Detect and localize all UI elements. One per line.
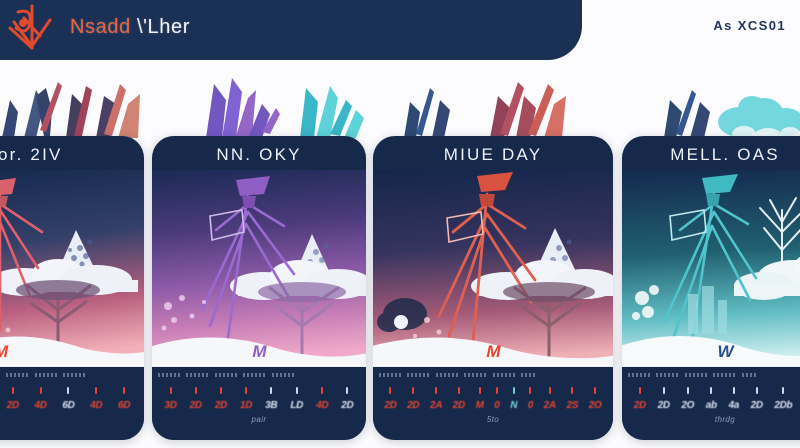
card-glyph: M xyxy=(0,342,7,362)
hour-pip xyxy=(496,387,498,394)
header-code-label: As XCS01 xyxy=(713,18,786,33)
hour-value: 6D xyxy=(118,400,130,411)
footer-tick-rule xyxy=(158,373,360,378)
card-illustration: M xyxy=(0,170,144,366)
hour-pip xyxy=(170,387,172,394)
hour-cell[interactable]: 2A xyxy=(544,387,556,413)
hour-value: 1D xyxy=(240,400,252,411)
weather-card[interactable]: or. 2IV xyxy=(0,136,144,440)
footer-tick-rule xyxy=(628,373,800,378)
card-footer: 3D 2D 2D 1D 3B LD 4D 2D pair xyxy=(152,366,366,440)
card-title: MIUE DAY xyxy=(373,145,613,165)
hour-value: 2D xyxy=(453,400,465,411)
card-illustration: M xyxy=(373,170,613,366)
hour-pip xyxy=(733,387,735,394)
hour-cell[interactable]: 2D xyxy=(658,387,670,413)
hour-value: LD xyxy=(290,400,303,411)
card-glyph: W xyxy=(717,342,732,362)
brand-mark-icon xyxy=(6,2,60,54)
card-illustration: W xyxy=(622,170,800,366)
hour-value: 2A xyxy=(430,400,442,411)
hour-cell[interactable]: 2D xyxy=(341,387,353,413)
hour-pip xyxy=(95,387,97,394)
hour-cell[interactable]: 2O xyxy=(589,387,602,413)
hour-pip xyxy=(270,387,272,394)
hour-cell[interactable]: 0 xyxy=(528,387,533,413)
hour-cell[interactable]: 4D xyxy=(90,387,102,413)
card-title: or. 2IV xyxy=(0,145,144,165)
hour-cell[interactable]: ab xyxy=(706,387,717,413)
hour-value: 2D xyxy=(190,400,202,411)
hour-pip xyxy=(321,387,323,394)
card-footer: 0 2D 4D 6D 4D 6D xyxy=(0,366,144,440)
hour-cell[interactable]: 0 xyxy=(494,387,499,413)
page-title: Nsadd \'Lher xyxy=(70,16,190,39)
hour-pip xyxy=(549,387,551,394)
hour-cell[interactable]: 3B xyxy=(265,387,277,413)
hour-pip xyxy=(513,387,515,394)
hour-value: 2D xyxy=(341,400,353,411)
hour-cell[interactable]: 2D xyxy=(634,387,646,413)
hour-cell[interactable]: LD xyxy=(290,387,303,413)
footer-subtext: thrdg xyxy=(622,415,800,424)
hour-value: 3D xyxy=(164,400,176,411)
page-title-part-2: \'Lher xyxy=(137,16,190,38)
hour-pip xyxy=(782,387,784,394)
card-divider xyxy=(0,365,144,367)
hour-value: 6D xyxy=(62,400,74,411)
hour-cell[interactable]: 4D xyxy=(35,387,47,413)
footer-subtext: pair xyxy=(152,415,366,424)
hour-value: 4D xyxy=(316,400,328,411)
app-root: Nsadd \'Lher As XCS01 or. 2IV xyxy=(0,0,800,448)
hour-cell[interactable]: 2D xyxy=(751,387,763,413)
weather-card[interactable]: MELL. OAS xyxy=(622,136,800,440)
hour-cell[interactable]: 2A xyxy=(430,387,442,413)
hour-cell[interactable]: 2D xyxy=(453,387,465,413)
hour-cell[interactable]: 4a xyxy=(728,387,739,413)
hour-value: 2O xyxy=(681,400,694,411)
hour-pip xyxy=(123,387,125,394)
hour-pip xyxy=(435,387,437,394)
card-glyph: M xyxy=(486,342,499,362)
decor-strip xyxy=(0,60,800,142)
hour-cell[interactable]: 4D xyxy=(316,387,328,413)
hour-value: 2D xyxy=(407,400,419,411)
hour-value: 4D xyxy=(90,400,102,411)
card-title: MELL. OAS xyxy=(622,145,800,165)
hour-value: 3B xyxy=(265,400,277,411)
hourly-row[interactable]: 3D 2D 2D 1D 3B LD 4D 2D xyxy=(152,387,366,413)
hour-value: 2D xyxy=(751,400,763,411)
hour-pip xyxy=(412,387,414,394)
card-title: NN. OKY xyxy=(152,145,366,165)
hour-cell[interactable]: 2Db xyxy=(774,387,792,413)
hour-pip xyxy=(296,387,298,394)
hour-pip xyxy=(346,387,348,394)
footer-tick-rule xyxy=(0,373,138,378)
hour-value: 0 xyxy=(494,400,499,411)
weather-card[interactable]: MIUE DAY xyxy=(373,136,613,440)
hour-pip xyxy=(40,387,42,394)
hour-cell[interactable]: 3D xyxy=(164,387,176,413)
hour-pip xyxy=(594,387,596,394)
hour-value: 2D xyxy=(7,400,19,411)
hour-cell[interactable]: 2D xyxy=(384,387,396,413)
hour-pip xyxy=(245,387,247,394)
page-title-part-1: Nsadd xyxy=(70,16,131,38)
hour-pip xyxy=(529,387,531,394)
hourly-row[interactable]: 2D 2D 2A 2D M 0 N 0 2A 2S 2O xyxy=(373,387,613,413)
hour-pip xyxy=(67,387,69,394)
hour-pip xyxy=(220,387,222,394)
hour-value: N xyxy=(510,400,517,411)
hour-pip xyxy=(663,387,665,394)
card-divider xyxy=(152,365,366,367)
hour-pip xyxy=(479,387,481,394)
card-footer: 2D 2D 2O ab 4a 2D 2Db 2D thrdg xyxy=(622,366,800,440)
hour-pip xyxy=(195,387,197,394)
weather-card[interactable]: NN. OKY xyxy=(152,136,366,440)
hour-value: 4a xyxy=(728,400,739,411)
footer-subtext: 5to xyxy=(373,415,613,424)
hour-cell[interactable]: 2D xyxy=(215,387,227,413)
hour-cell[interactable]: 2D xyxy=(190,387,202,413)
hour-cell[interactable]: 6D xyxy=(62,387,74,413)
hour-pip xyxy=(12,387,14,394)
hourly-row[interactable]: 0 2D 4D 6D 4D 6D xyxy=(0,387,144,413)
hour-value: M xyxy=(476,400,484,411)
hour-cell[interactable]: M xyxy=(476,387,484,413)
hour-cell[interactable]: 1D xyxy=(240,387,252,413)
hour-value: 2O xyxy=(589,400,602,411)
hour-cell[interactable]: 2D xyxy=(7,387,19,413)
card-illustration: M xyxy=(152,170,366,366)
hour-value: 4D xyxy=(35,400,47,411)
hour-value: 2Db xyxy=(774,400,792,411)
card-divider xyxy=(622,365,800,367)
hourly-row[interactable]: 2D 2D 2O ab 4a 2D 2Db 2D xyxy=(622,387,800,413)
hour-pip xyxy=(458,387,460,394)
hour-pip xyxy=(389,387,391,394)
hour-value: 0 xyxy=(528,400,533,411)
hour-value: 2S xyxy=(567,400,579,411)
hour-cell[interactable]: 2D xyxy=(407,387,419,413)
hour-value: 2D xyxy=(634,400,646,411)
footer-tick-rule xyxy=(379,373,607,378)
hour-value: 2D xyxy=(384,400,396,411)
hour-value: 2D xyxy=(215,400,227,411)
card-divider xyxy=(373,365,613,367)
hour-value: 2A xyxy=(544,400,556,411)
hour-value: ab xyxy=(706,400,717,411)
hour-pip xyxy=(571,387,573,394)
hour-pip xyxy=(756,387,758,394)
hour-cell[interactable]: 2S xyxy=(567,387,579,413)
card-row: or. 2IV xyxy=(0,136,800,448)
hour-pip xyxy=(687,387,689,394)
hour-value: 2D xyxy=(658,400,670,411)
hour-pip xyxy=(710,387,712,394)
hour-cell[interactable]: 6D xyxy=(118,387,130,413)
hour-cell[interactable]: N xyxy=(510,387,517,413)
card-footer: 2D 2D 2A 2D M 0 N 0 2A 2S 2O 5to xyxy=(373,366,613,440)
hour-cell[interactable]: 2O xyxy=(681,387,694,413)
card-glyph: M xyxy=(252,342,265,362)
hour-pip xyxy=(639,387,641,394)
